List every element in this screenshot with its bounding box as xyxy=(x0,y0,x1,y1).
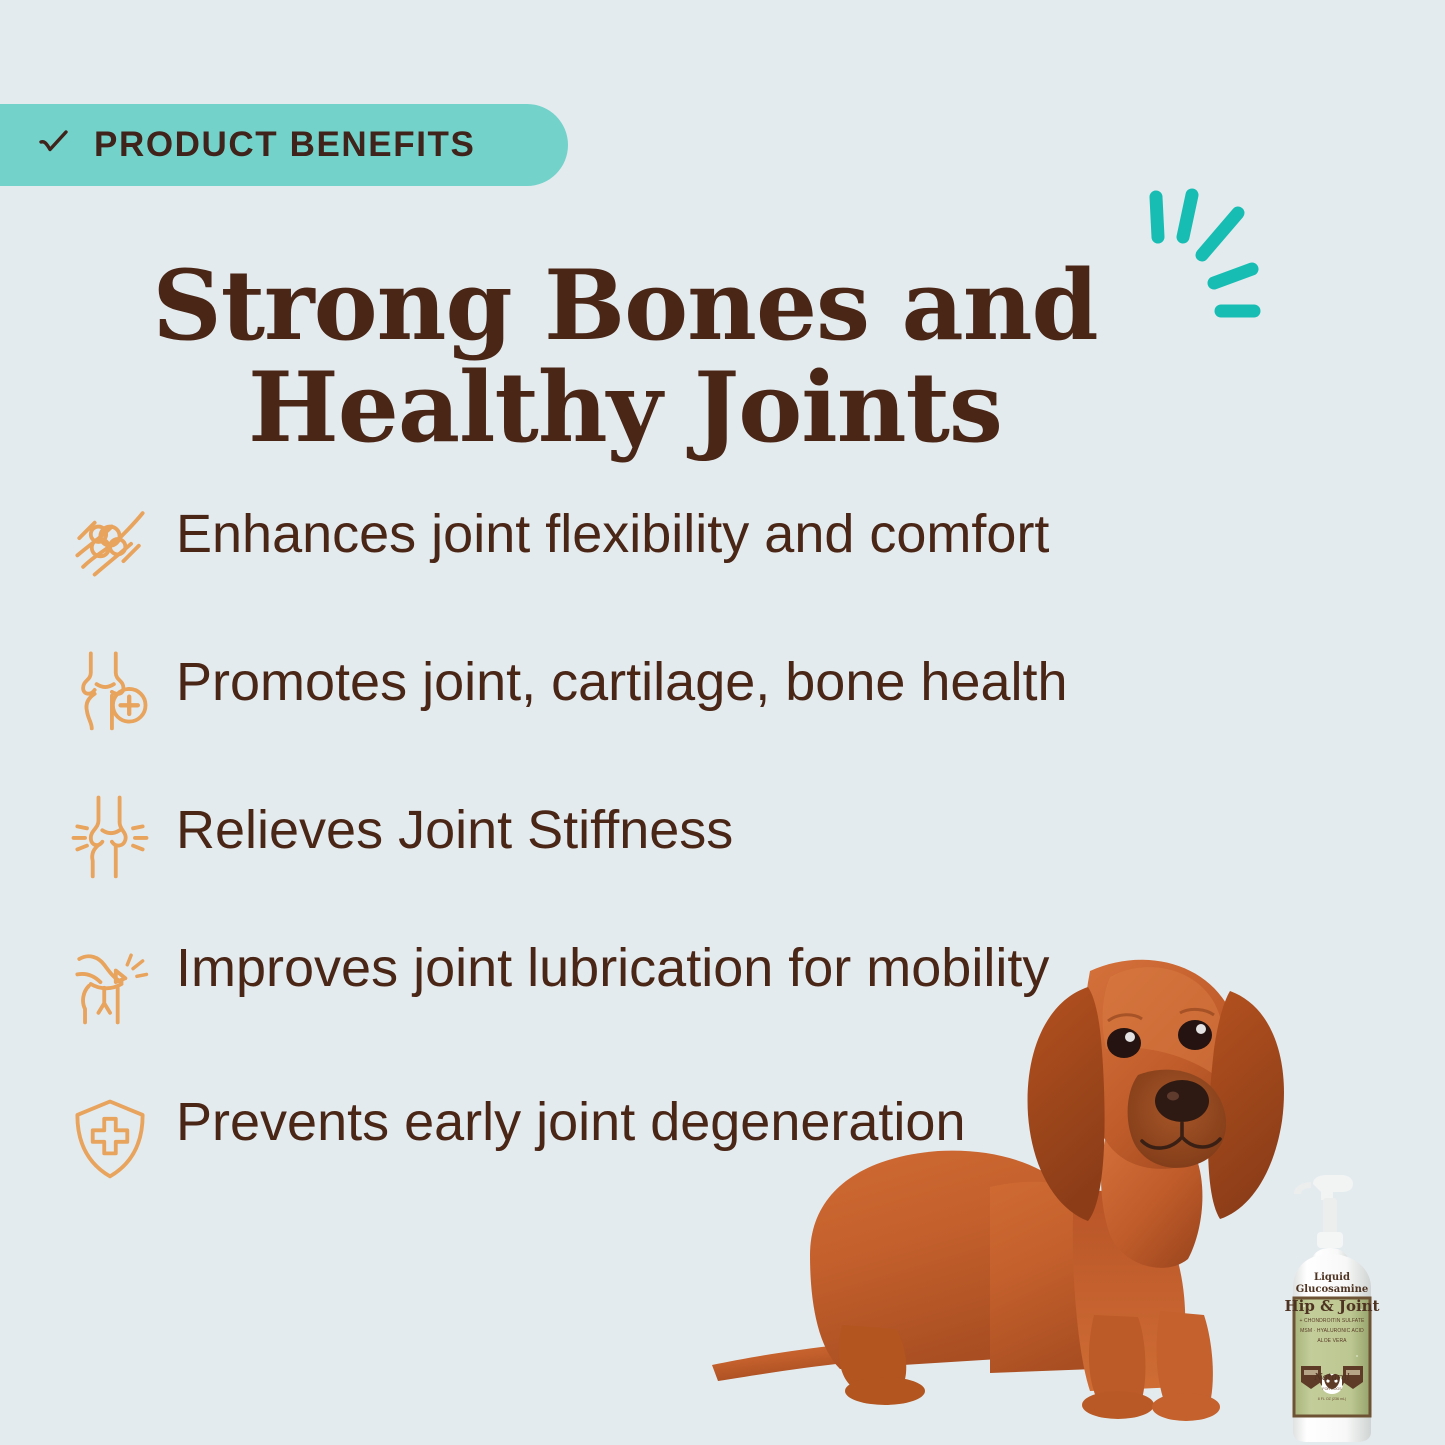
benefit-item-2: Promotes joint, cartilage, bone health xyxy=(62,640,1292,736)
flexible-joint-icon xyxy=(62,492,158,588)
check-icon xyxy=(36,125,76,165)
product-benefits-label: PRODUCT BENEFITS xyxy=(94,125,475,165)
joint-relief-rays-icon xyxy=(62,788,158,884)
benefit-label-3: Relieves Joint Stiffness xyxy=(176,788,733,862)
joint-spark-icon xyxy=(62,936,158,1032)
page-title: Strong Bones and Healthy Joints xyxy=(0,255,1250,459)
product-benefits-badge: PRODUCT BENEFITS xyxy=(0,104,568,186)
benefit-item-1: Enhances joint flexibility and comfort xyxy=(62,492,1292,588)
shield-cross-icon xyxy=(62,1090,158,1186)
dachshund-dog-photo xyxy=(690,925,1310,1445)
joint-health-cross-icon xyxy=(62,640,158,736)
benefit-label-2: Promotes joint, cartilage, bone health xyxy=(176,640,1068,714)
benefit-label-1: Enhances joint flexibility and comfort xyxy=(176,492,1049,566)
pump-bottle-icon xyxy=(1277,1170,1387,1445)
headline-line-1: Strong Bones and xyxy=(0,255,1250,357)
headline-line-2: Healthy Joints xyxy=(0,357,1250,459)
benefit-item-3: Relieves Joint Stiffness xyxy=(62,788,1292,884)
